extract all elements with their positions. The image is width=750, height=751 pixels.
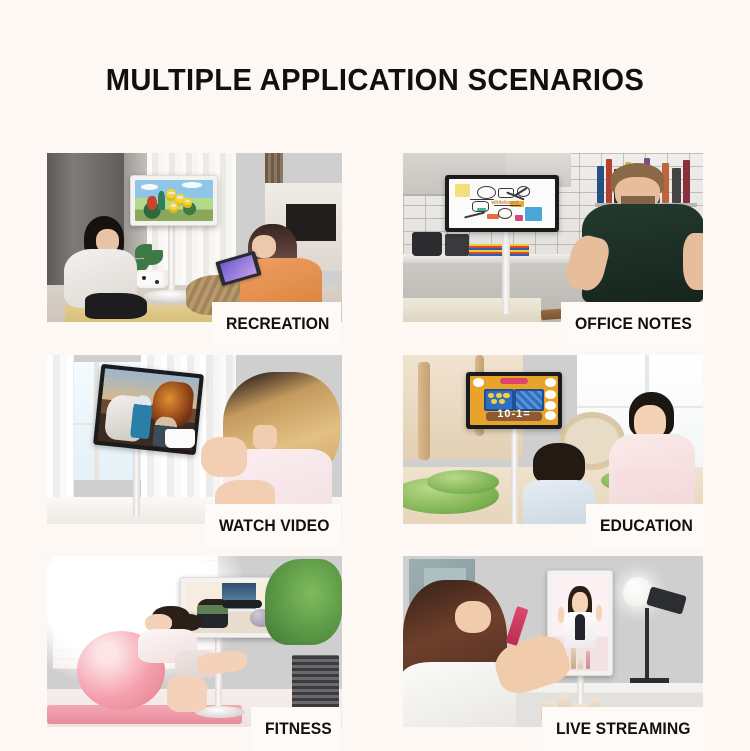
light-stand-pole	[645, 608, 648, 682]
scenario-card-office-notes[interactable]: whiteboard OFFICE NOTES	[403, 153, 703, 322]
scenario-card-live-streaming[interactable]: LIVE STREAMING	[403, 556, 703, 727]
scenario-label-fitness: FITNESS	[265, 720, 332, 739]
screen-content-cartoon	[135, 180, 214, 221]
scenario-label-plate-office-notes: OFFICE NOTES	[561, 302, 704, 346]
screen-content-math-game: 10-1=	[470, 376, 558, 425]
scenario-card-education[interactable]: 10-1= EDUCATION	[403, 355, 703, 524]
water-jug	[445, 234, 469, 256]
scenario-card-fitness[interactable]: FITNESS	[47, 556, 342, 727]
person-exercising	[118, 606, 242, 712]
portable-screen-office-notes[interactable]: whiteboard	[445, 175, 559, 232]
scenario-photo-watch-video	[47, 355, 342, 524]
stand-pole	[502, 232, 510, 313]
light-stand-legs	[630, 678, 670, 682]
person-left-seated	[59, 216, 148, 317]
scenario-photo-office-notes: whiteboard	[403, 153, 703, 322]
scenario-card-recreation[interactable]: RECREATION	[47, 153, 342, 322]
scenario-label-education: EDUCATION	[600, 517, 693, 536]
stand-pole	[133, 450, 141, 518]
green-cushion-small	[427, 470, 499, 494]
planter-basket	[292, 655, 339, 713]
light-head	[646, 587, 687, 616]
potted-plant-leaves	[265, 559, 342, 645]
coffee-mug	[165, 429, 195, 448]
scenario-label-plate-fitness: FITNESS	[251, 707, 341, 751]
scenario-label-plate-watch-video: WATCH VIDEO	[205, 504, 341, 548]
page-title: MULTIPLE APPLICATION SCENARIOS	[23, 62, 728, 98]
studio-light	[619, 577, 685, 683]
stacked-books	[469, 244, 529, 256]
scenario-label-plate-education: EDUCATION	[586, 504, 704, 548]
math-equation: 10-1=	[470, 408, 558, 420]
scenario-photo-education: 10-1=	[403, 355, 703, 524]
screen-content-whiteboard: whiteboard	[449, 179, 555, 228]
person-watching	[212, 369, 342, 524]
stand-pole	[511, 429, 518, 524]
wood-post-left	[418, 362, 430, 460]
portable-screen-education[interactable]: 10-1=	[466, 372, 562, 429]
scenario-photo-recreation	[47, 153, 342, 322]
kettle	[412, 232, 442, 256]
scenario-label-plate-recreation: RECREATION	[212, 302, 341, 346]
scenario-label-live-streaming: LIVE STREAMING	[556, 720, 691, 739]
poster-root: MULTIPLE APPLICATION SCENARIOS	[0, 0, 750, 750]
scenario-card-watch-video[interactable]: WATCH VIDEO	[47, 355, 342, 524]
scenario-label-plate-live-streaming: LIVE STREAMING	[542, 707, 704, 751]
person-streaming-viewer	[403, 580, 535, 727]
scenario-photo-fitness	[47, 556, 342, 727]
person-child	[523, 443, 595, 524]
scenario-label-office-notes: OFFICE NOTES	[575, 315, 692, 334]
person-standing	[577, 163, 703, 322]
scattered-papers	[403, 298, 541, 322]
scenario-photo-live-streaming	[403, 556, 703, 727]
scenario-label-recreation: RECREATION	[226, 315, 329, 334]
scenario-label-watch-video: WATCH VIDEO	[219, 517, 329, 536]
